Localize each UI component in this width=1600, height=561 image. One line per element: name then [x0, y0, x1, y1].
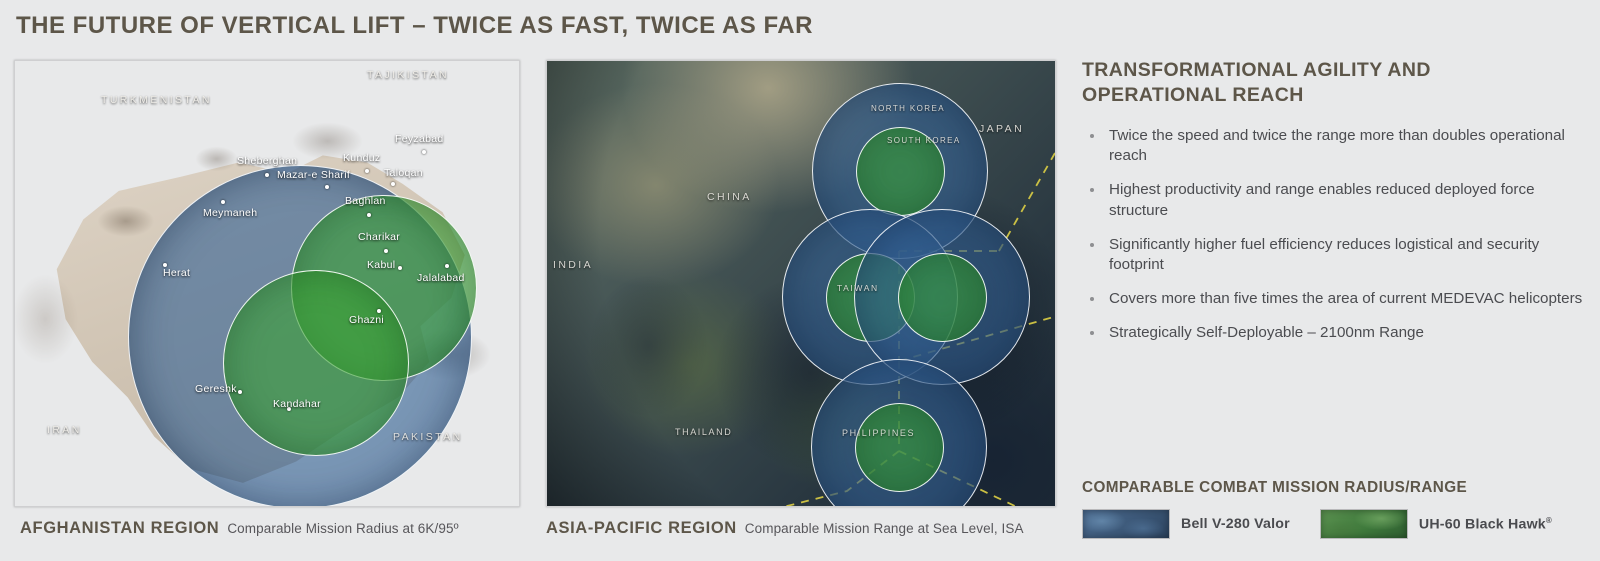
city-dot-gereshk: [238, 390, 242, 394]
page-title: THE FUTURE OF VERTICAL LIFT – TWICE AS F…: [16, 12, 813, 40]
range-circle-green-borneo: [855, 403, 944, 492]
legend-label-bell-v280: Bell V-280 Valor: [1181, 516, 1290, 532]
city-label-kandahar: Kandahar: [273, 398, 321, 410]
bullet-text: Covers more than five times the area of …: [1109, 290, 1582, 307]
list-item: Strategically Self-Deployable – 2100nm R…: [1082, 323, 1588, 343]
map-label-china: CHINA: [707, 191, 752, 203]
city-label-kabul: Kabul: [367, 259, 395, 271]
map-label-taiwan: TAIWAN: [837, 283, 879, 293]
map-afghanistan-region[interactable]: TURKMENISTAN TAJIKISTAN IRAN PAKISTAN Fe…: [14, 60, 520, 507]
legend-title: COMPARABLE COMBAT MISSION RADIUS/RANGE: [1082, 479, 1592, 497]
legend-item-uh60: UH-60 Black Hawk®: [1320, 509, 1552, 539]
list-item: Twice the speed and twice the range more…: [1082, 126, 1588, 166]
city-dot-baghlan: [367, 213, 371, 217]
city-label-taloqan: Taloqan: [384, 167, 423, 179]
map-label-iran: IRAN: [47, 424, 82, 436]
caption-afghanistan-subtitle: Comparable Mission Radius at 6K/95º: [227, 521, 458, 536]
city-dot-charikar: [384, 249, 388, 253]
city-label-herat: Herat: [163, 267, 190, 279]
benefits-bullet-list: Twice the speed and twice the range more…: [1082, 126, 1588, 344]
legend-label-text: UH-60 Black Hawk: [1419, 516, 1546, 532]
city-dot-feyzabad: [422, 150, 426, 154]
bullet-text: Strategically Self-Deployable – 2100nm R…: [1109, 324, 1424, 341]
city-label-jalalabad: Jalalabad: [417, 272, 465, 284]
legend-items: Bell V-280 Valor UH-60 Black Hawk®: [1082, 509, 1592, 539]
map-asia-pacific-region[interactable]: INDIA CHINA NORTH KOREA SOUTH KOREA JAPA…: [546, 60, 1056, 507]
legend: COMPARABLE COMBAT MISSION RADIUS/RANGE B…: [1082, 479, 1592, 539]
city-dot-kunduz: [365, 169, 369, 173]
right-heading-line1: TRANSFORMATIONAL AGILITY AND: [1082, 58, 1588, 83]
list-item: Highest productivity and range enables r…: [1082, 180, 1588, 220]
map-label-south-korea: SOUTH KOREA: [887, 137, 961, 146]
legend-item-bell-v280: Bell V-280 Valor: [1082, 509, 1290, 539]
city-label-charikar: Charikar: [358, 231, 400, 243]
list-item: Covers more than five times the area of …: [1082, 289, 1588, 309]
bullet-dot-icon: [1090, 297, 1094, 301]
caption-asia-pacific-title: ASIA-PACIFIC REGION: [546, 519, 737, 538]
city-dot-ghazni: [377, 309, 381, 313]
right-heading: TRANSFORMATIONAL AGILITY AND OPERATIONAL…: [1082, 58, 1588, 108]
city-dot-meymaneh: [221, 200, 225, 204]
city-dot-jalalabad: [445, 264, 449, 268]
map-label-turkmenistan: TURKMENISTAN: [101, 94, 212, 106]
range-circle-green-uh60-south: [223, 270, 409, 456]
city-label-baghlan: Baghlan: [345, 195, 386, 207]
bullet-dot-icon: [1090, 188, 1094, 192]
city-label-ghazni: Ghazni: [349, 314, 384, 326]
city-label-meymaneh: Meymaneh: [203, 207, 257, 219]
map-label-thailand: THAILAND: [675, 427, 732, 437]
right-heading-line2: OPERATIONAL REACH: [1082, 83, 1588, 108]
bullet-dot-icon: [1090, 134, 1094, 138]
bullet-dot-icon: [1090, 243, 1094, 247]
legend-swatch-green: [1320, 509, 1408, 539]
bullet-text: Twice the speed and twice the range more…: [1109, 127, 1565, 164]
legend-swatch-blue: [1082, 509, 1170, 539]
map-label-tajikistan: TAJIKISTAN: [367, 69, 449, 81]
city-label-sheberghan: Sheberghan: [237, 155, 297, 167]
bullet-dot-icon: [1090, 331, 1094, 335]
caption-asia-pacific: ASIA-PACIFIC REGION Comparable Mission R…: [546, 519, 1024, 538]
legend-label-uh60: UH-60 Black Hawk®: [1419, 516, 1552, 533]
bullet-text: Highest productivity and range enables r…: [1109, 181, 1535, 218]
legend-label-text: Bell V-280 Valor: [1181, 516, 1290, 532]
map-label-north-korea: NORTH KOREA: [871, 105, 945, 114]
range-circle-green-okinawa: [898, 253, 987, 342]
caption-asia-pacific-subtitle: Comparable Mission Range at Sea Level, I…: [745, 521, 1024, 536]
city-dot-kabul: [398, 266, 402, 270]
bullet-text: Significantly higher fuel efficiency red…: [1109, 236, 1539, 273]
map-label-philippines: PHILIPPINES: [842, 428, 915, 438]
caption-afghanistan: AFGHANISTAN REGION Comparable Mission Ra…: [20, 519, 459, 538]
city-dot-mazar-e-sharif: [325, 185, 329, 189]
right-content-column: TRANSFORMATIONAL AGILITY AND OPERATIONAL…: [1082, 58, 1588, 358]
city-label-kunduz: Kunduz: [343, 152, 380, 164]
city-label-gereshk: Gereshk: [195, 383, 237, 395]
city-label-mazar-e-sharif: Mazar-e Sharif: [277, 169, 350, 181]
map-label-japan: JAPAN: [979, 123, 1024, 135]
city-dot-taloqan: [391, 182, 395, 186]
city-label-feyzabad: Feyzabad: [395, 133, 444, 145]
city-dot-sheberghan: [265, 173, 269, 177]
registered-trademark-icon: ®: [1546, 516, 1552, 525]
map-label-pakistan: PAKISTAN: [393, 431, 463, 443]
map-label-india: INDIA: [553, 259, 593, 271]
caption-afghanistan-title: AFGHANISTAN REGION: [20, 519, 219, 538]
list-item: Significantly higher fuel efficiency red…: [1082, 235, 1588, 275]
